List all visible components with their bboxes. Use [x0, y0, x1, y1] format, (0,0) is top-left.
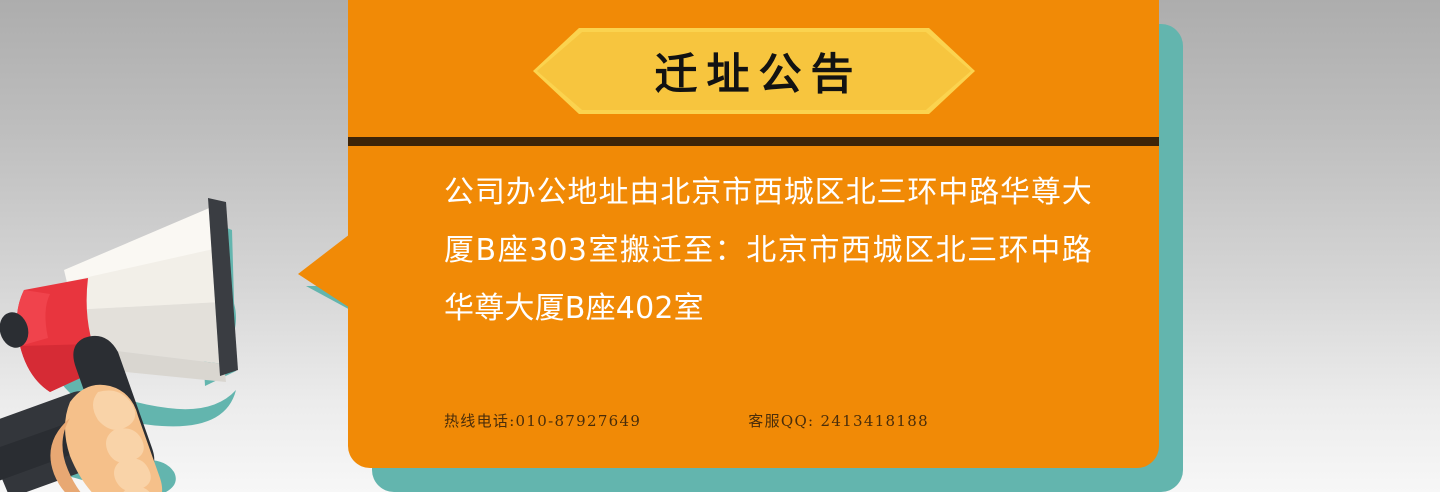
qq-text: 客服QQ: 2413418188 [748, 410, 929, 431]
megaphone-illustration [0, 186, 320, 492]
title-banner: 迁址公告 [533, 28, 975, 114]
hotline-text: 热线电话:010-87927649 [444, 410, 641, 431]
announcement-banner-stage: 迁址公告 公司办公地址由北京市西城区北三环中路华尊大厦B座303室搬迁至：北京市… [0, 0, 1440, 492]
contact-footer: 热线电话:010-87927649 客服QQ: 2413418188 [444, 410, 1104, 431]
page-title: 迁址公告 [533, 28, 975, 114]
header-divider [348, 137, 1159, 146]
announcement-card: 迁址公告 公司办公地址由北京市西城区北三环中路华尊大厦B座303室搬迁至：北京市… [348, 0, 1159, 468]
speech-bubble-tail [298, 234, 350, 308]
announcement-body: 公司办公地址由北京市西城区北三环中路华尊大厦B座303室搬迁至：北京市西城区北三… [444, 164, 1092, 338]
